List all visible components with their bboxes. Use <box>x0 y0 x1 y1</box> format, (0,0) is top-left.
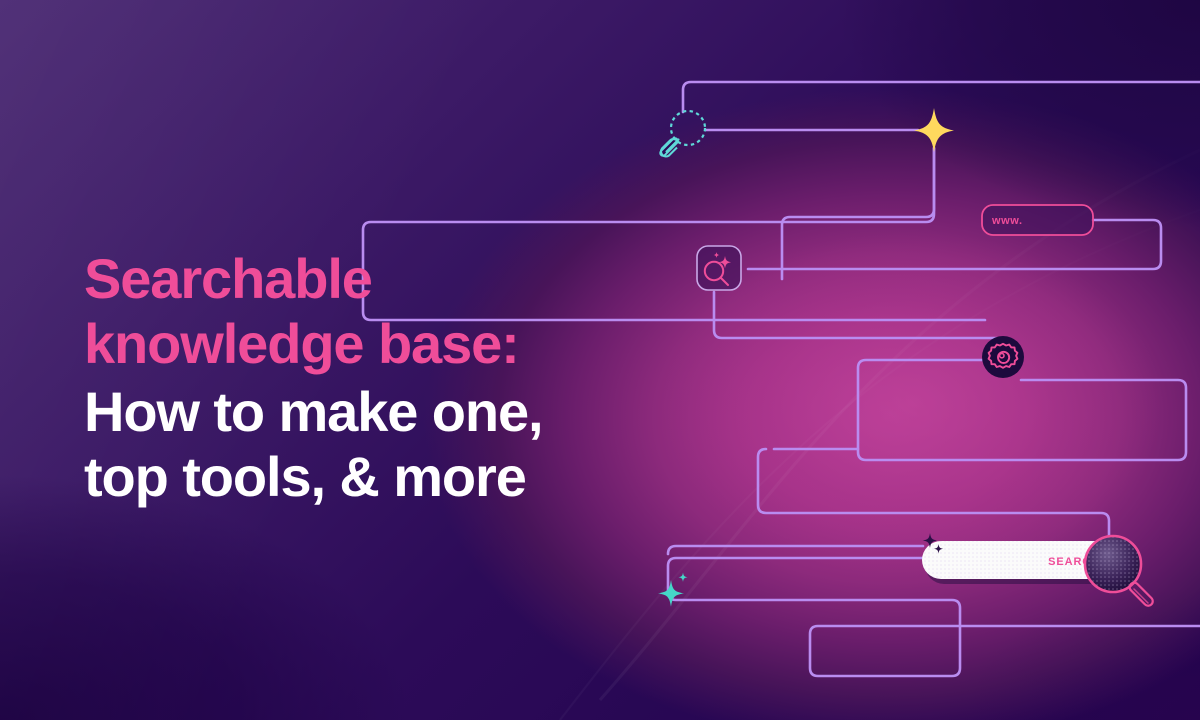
headline-line-2: knowledge base: <box>84 311 684 377</box>
circuit-line-F <box>858 360 1186 460</box>
headline-line-3: How to make one, <box>84 379 684 445</box>
banner-root: www. <box>0 0 1200 720</box>
settings-node[interactable] <box>982 336 1024 378</box>
circuit-line-J <box>668 546 923 554</box>
magnifying-glass-icon-bottom[interactable] <box>1085 536 1153 606</box>
ai-search-box[interactable] <box>697 246 741 290</box>
page-title: Searchable knowledge base: How to make o… <box>84 246 684 510</box>
circuit-line-G <box>758 449 1109 543</box>
browser-url-bar[interactable]: www. <box>982 205 1093 235</box>
four-point-star-icon <box>914 108 954 152</box>
headline-line-4: top tools, & more <box>84 444 684 510</box>
circuit-line-C <box>748 220 1161 269</box>
magnifying-glass-icon-top <box>661 111 706 158</box>
url-bar-text: www. <box>991 215 1023 227</box>
magnifier-handle-bottom <box>1130 583 1153 606</box>
circuit-line-3 <box>782 148 934 279</box>
headline-line-1: Searchable <box>84 246 684 312</box>
background-swoosh-1 <box>600 150 1200 700</box>
circuit-line-1 <box>683 82 1200 112</box>
